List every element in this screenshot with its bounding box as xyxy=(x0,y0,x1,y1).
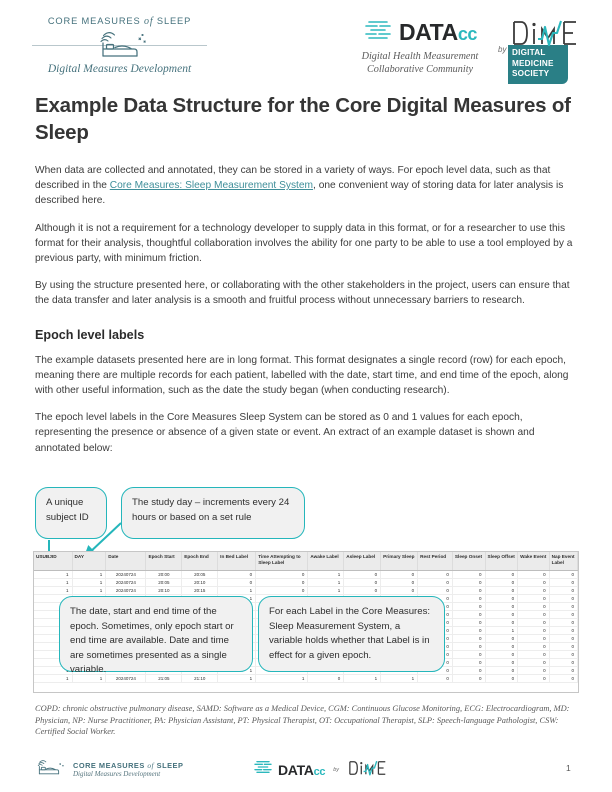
table-cell: 0 xyxy=(549,586,577,594)
table-cell: 0 xyxy=(452,602,485,610)
col-wake-event[interactable]: Wake Event xyxy=(518,552,550,570)
table-cell: 1 xyxy=(308,570,344,578)
by-label: by xyxy=(498,45,506,54)
table-cell: 0 xyxy=(485,650,518,658)
dime-line1: DIGITAL xyxy=(512,48,564,59)
cms-logo-subtitle: Digital Measures Development xyxy=(32,63,207,75)
col-date[interactable]: Date xyxy=(106,552,146,570)
table-cell: 0 xyxy=(549,675,577,683)
cms-logo-title: CORE MEASURES of SLEEP xyxy=(32,16,207,27)
col-rest-period[interactable]: Rest Period xyxy=(418,552,453,570)
table-cell: 21:10 xyxy=(182,675,218,683)
table-cell: 20240724 xyxy=(106,570,146,578)
table-cell: 0 xyxy=(485,618,518,626)
table-cell: 1 xyxy=(308,578,344,586)
table-cell: 0 xyxy=(518,618,550,626)
table-row[interactable]: 112024072421:0521:101101100000 xyxy=(34,675,578,683)
page-number: 1 xyxy=(566,763,571,773)
footer-cms-title-pre: CORE MEASURES xyxy=(73,761,145,770)
table-cell: 20:15 xyxy=(182,586,218,594)
core-measures-sleep-measurement-system-link[interactable]: Core Measures: Sleep Measurement System xyxy=(110,180,313,191)
table-cell: 20240724 xyxy=(106,586,146,594)
datacc-wordmark: DATAcc xyxy=(399,19,477,46)
footer-cms-text: CORE MEASURES of SLEEP Digital Measures … xyxy=(73,761,183,778)
table-cell: 0 xyxy=(518,634,550,642)
table-cell: 0 xyxy=(418,586,453,594)
document-content: Example Data Structure for the Core Digi… xyxy=(35,92,577,468)
callout-label-variables: For each Label in the Core Measures: Sle… xyxy=(258,596,445,672)
table-cell: 0 xyxy=(452,667,485,675)
dime-logo: DIGITAL MEDICINE SOCIETY xyxy=(508,19,580,84)
table-cell: 0 xyxy=(344,586,381,594)
col-day[interactable]: DAY xyxy=(72,552,106,570)
col-in-bed-label[interactable]: In Bed Label xyxy=(218,552,256,570)
footer-cms-title-of: of xyxy=(147,761,154,770)
table-row[interactable]: 112024072420:0520:100010000000 xyxy=(34,578,578,586)
cms-logo-title-pre: CORE MEASURES xyxy=(48,16,141,26)
table-cell: 1 xyxy=(34,570,72,578)
table-cell: 0 xyxy=(308,675,344,683)
col-usubjid[interactable]: USUBJID xyxy=(34,552,72,570)
table-cell: 0 xyxy=(485,610,518,618)
table-cell: 0 xyxy=(344,578,381,586)
table-cell: 0 xyxy=(485,602,518,610)
table-cell: 0 xyxy=(518,578,550,586)
datacc-subtitle-line2: Collaborative Community xyxy=(345,63,495,76)
sleep-bed-icon xyxy=(32,756,66,783)
table-cell: 0 xyxy=(518,642,550,650)
table-cell: 0 xyxy=(452,642,485,650)
table-cell: 0 xyxy=(452,578,485,586)
paragraph-1: When data are collected and annotated, t… xyxy=(35,163,577,209)
table-cell: 1 xyxy=(72,570,106,578)
table-cell: 0 xyxy=(485,578,518,586)
table-cell: 0 xyxy=(418,570,453,578)
col-sleep-onset[interactable]: Sleep Onset xyxy=(452,552,485,570)
table-cell: 0 xyxy=(485,594,518,602)
section-heading-epoch-level-labels: Epoch level labels xyxy=(35,328,577,342)
table-cell: 0 xyxy=(549,659,577,667)
table-cell: 20:05 xyxy=(182,570,218,578)
footer-cms-title-post: SLEEP xyxy=(157,761,184,770)
table-cell: 1 xyxy=(34,675,72,683)
table-cell: 0 xyxy=(452,675,485,683)
table-cell: 0 xyxy=(485,659,518,667)
table-cell: 0 xyxy=(518,594,550,602)
table-cell: 0 xyxy=(218,578,256,586)
table-cell: 1 xyxy=(34,586,72,594)
datacc-waves-icon xyxy=(363,18,393,47)
table-cell: 0 xyxy=(256,570,308,578)
table-header-row: USUBJID DAY Date Epoch Start Epoch End I… xyxy=(34,552,578,570)
table-cell: 0 xyxy=(518,610,550,618)
table-cell: 20:10 xyxy=(146,586,182,594)
table-cell: 20:00 xyxy=(146,570,182,578)
table-cell: 0 xyxy=(518,675,550,683)
cms-logo-title-post: SLEEP xyxy=(157,16,191,26)
dime-line3: SOCIETY xyxy=(512,69,564,80)
table-cell: 1 xyxy=(308,586,344,594)
table-cell: 0 xyxy=(549,618,577,626)
col-asleep-label[interactable]: Asleep Label xyxy=(344,552,381,570)
datacc-wordmark-suffix: cc xyxy=(458,24,477,44)
table-cell: 0 xyxy=(549,594,577,602)
table-cell: 0 xyxy=(485,634,518,642)
callout-date-and-time: The date, start and end time of the epoc… xyxy=(59,596,253,672)
table-cell: 0 xyxy=(381,586,418,594)
dime-society-box: DIGITAL MEDICINE SOCIETY xyxy=(508,45,568,84)
table-cell: 0 xyxy=(344,570,381,578)
table-cell: 0 xyxy=(518,586,550,594)
table-cell: 0 xyxy=(485,570,518,578)
table-cell: 0 xyxy=(452,618,485,626)
table-cell: 0 xyxy=(452,586,485,594)
table-cell: 0 xyxy=(256,586,308,594)
table-cell: 1 xyxy=(256,675,308,683)
page-header: CORE MEASURES of SLEEP xyxy=(0,0,612,86)
table-cell: 0 xyxy=(381,578,418,586)
footer-datacc-logo: DATAcc by xyxy=(253,759,390,780)
table-cell: 0 xyxy=(549,634,577,642)
col-epoch-end[interactable]: Epoch End xyxy=(182,552,218,570)
col-epoch-start[interactable]: Epoch Start xyxy=(146,552,182,570)
cms-logo-title-of: of xyxy=(144,16,153,27)
datacc-subtitle-line1: Digital Health Measurement xyxy=(345,50,495,63)
table-cell: 1 xyxy=(485,626,518,634)
table-cell: 0 xyxy=(381,570,418,578)
col-time-attempting-to-sleep-label[interactable]: Time Attempting to Sleep Label xyxy=(256,552,308,570)
footer-dime-wordmark xyxy=(344,760,390,779)
table-cell: 0 xyxy=(452,570,485,578)
dime-line2: MEDICINE xyxy=(512,59,564,70)
paragraph-2: Although it is not a requirement for a t… xyxy=(35,221,577,267)
table-cell: 0 xyxy=(549,642,577,650)
footer-cms-title: CORE MEASURES of SLEEP xyxy=(73,761,183,770)
table-cell: 1 xyxy=(72,586,106,594)
table-cell: 0 xyxy=(518,570,550,578)
table-cell: 20:05 xyxy=(146,578,182,586)
table-cell: 0 xyxy=(485,586,518,594)
col-awake-label[interactable]: Awake Label xyxy=(308,552,344,570)
table-cell: 0 xyxy=(452,626,485,634)
table-cell: 20240724 xyxy=(106,578,146,586)
table-cell: 0 xyxy=(452,634,485,642)
table-cell: 1 xyxy=(72,578,106,586)
table-cell: 0 xyxy=(549,610,577,618)
table-cell: 0 xyxy=(485,675,518,683)
table-cell: 0 xyxy=(549,626,577,634)
dime-ecg-icon xyxy=(508,19,580,45)
table-cell: 0 xyxy=(518,602,550,610)
table-cell: 0 xyxy=(452,594,485,602)
core-measures-sleep-logo: CORE MEASURES of SLEEP xyxy=(32,16,207,75)
table-cell: 20240724 xyxy=(106,675,146,683)
abbreviations-footnote: COPD: chronic obstructive pulmonary dise… xyxy=(35,703,580,738)
table-row[interactable]: 112024072420:1020:151010000000 xyxy=(34,586,578,594)
paragraph-3: By using the structure presented here, o… xyxy=(35,278,577,308)
footer-datacc-wordmark-suffix: cc xyxy=(314,766,326,778)
col-primary-sleep[interactable]: Primary Sleep xyxy=(381,552,418,570)
footer-datacc-wordmark-main: DATA xyxy=(278,762,314,778)
table-cell: 0 xyxy=(518,659,550,667)
table-cell: 1 xyxy=(218,675,256,683)
table-cell: 1 xyxy=(218,586,256,594)
table-cell: 0 xyxy=(549,578,577,586)
table-cell: 0 xyxy=(452,610,485,618)
table-cell: 1 xyxy=(381,675,418,683)
table-cell: 1 xyxy=(34,578,72,586)
page-title: Example Data Structure for the Core Digi… xyxy=(35,92,577,146)
table-cell: 0 xyxy=(452,650,485,658)
table-row[interactable]: 112024072420:0020:050010000000 xyxy=(34,570,578,578)
table-cell: 0 xyxy=(518,667,550,675)
table-cell: 0 xyxy=(549,667,577,675)
paragraph-5: The epoch level labels in the Core Measu… xyxy=(35,410,577,456)
table-cell: 0 xyxy=(218,570,256,578)
table-cell: 0 xyxy=(518,626,550,634)
sleep-bed-icon xyxy=(90,29,150,64)
table-cell: 0 xyxy=(485,667,518,675)
datacc-subtitle: Digital Health Measurement Collaborative… xyxy=(345,50,495,76)
table-cell: 1 xyxy=(344,675,381,683)
datacc-waves-icon xyxy=(253,759,273,780)
table-cell: 0 xyxy=(418,578,453,586)
footer-cms-subtitle: Digital Measures Development xyxy=(73,770,183,778)
table-cell: 0 xyxy=(256,578,308,586)
table-cell: 0 xyxy=(549,602,577,610)
table-cell: 0 xyxy=(485,642,518,650)
callout-study-day: The study day – increments every 24 hour… xyxy=(121,487,305,539)
table-cell: 0 xyxy=(549,570,577,578)
table-cell: 0 xyxy=(452,659,485,667)
table-cell: 0 xyxy=(418,675,453,683)
footer-core-measures-logo: CORE MEASURES of SLEEP Digital Measures … xyxy=(32,756,183,783)
datacc-wordmark-main: DATA xyxy=(399,19,458,45)
callout-subject-id: A unique subject ID xyxy=(35,487,107,539)
col-nap-event-label[interactable]: Nap Event Label xyxy=(549,552,577,570)
footer-by-label: by xyxy=(333,767,339,773)
table-cell: 0 xyxy=(518,650,550,658)
table-cell: 0 xyxy=(549,650,577,658)
page-footer: CORE MEASURES of SLEEP Digital Measures … xyxy=(0,752,612,792)
datacc-logo: DATAcc Digital Health Measurement Collab… xyxy=(345,18,495,76)
footer-datacc-wordmark: DATAcc xyxy=(278,762,325,778)
table-cell: 20:10 xyxy=(182,578,218,586)
table-cell: 21:05 xyxy=(146,675,182,683)
paragraph-4: The example datasets presented here are … xyxy=(35,353,577,399)
col-sleep-offset[interactable]: Sleep Offset xyxy=(485,552,518,570)
